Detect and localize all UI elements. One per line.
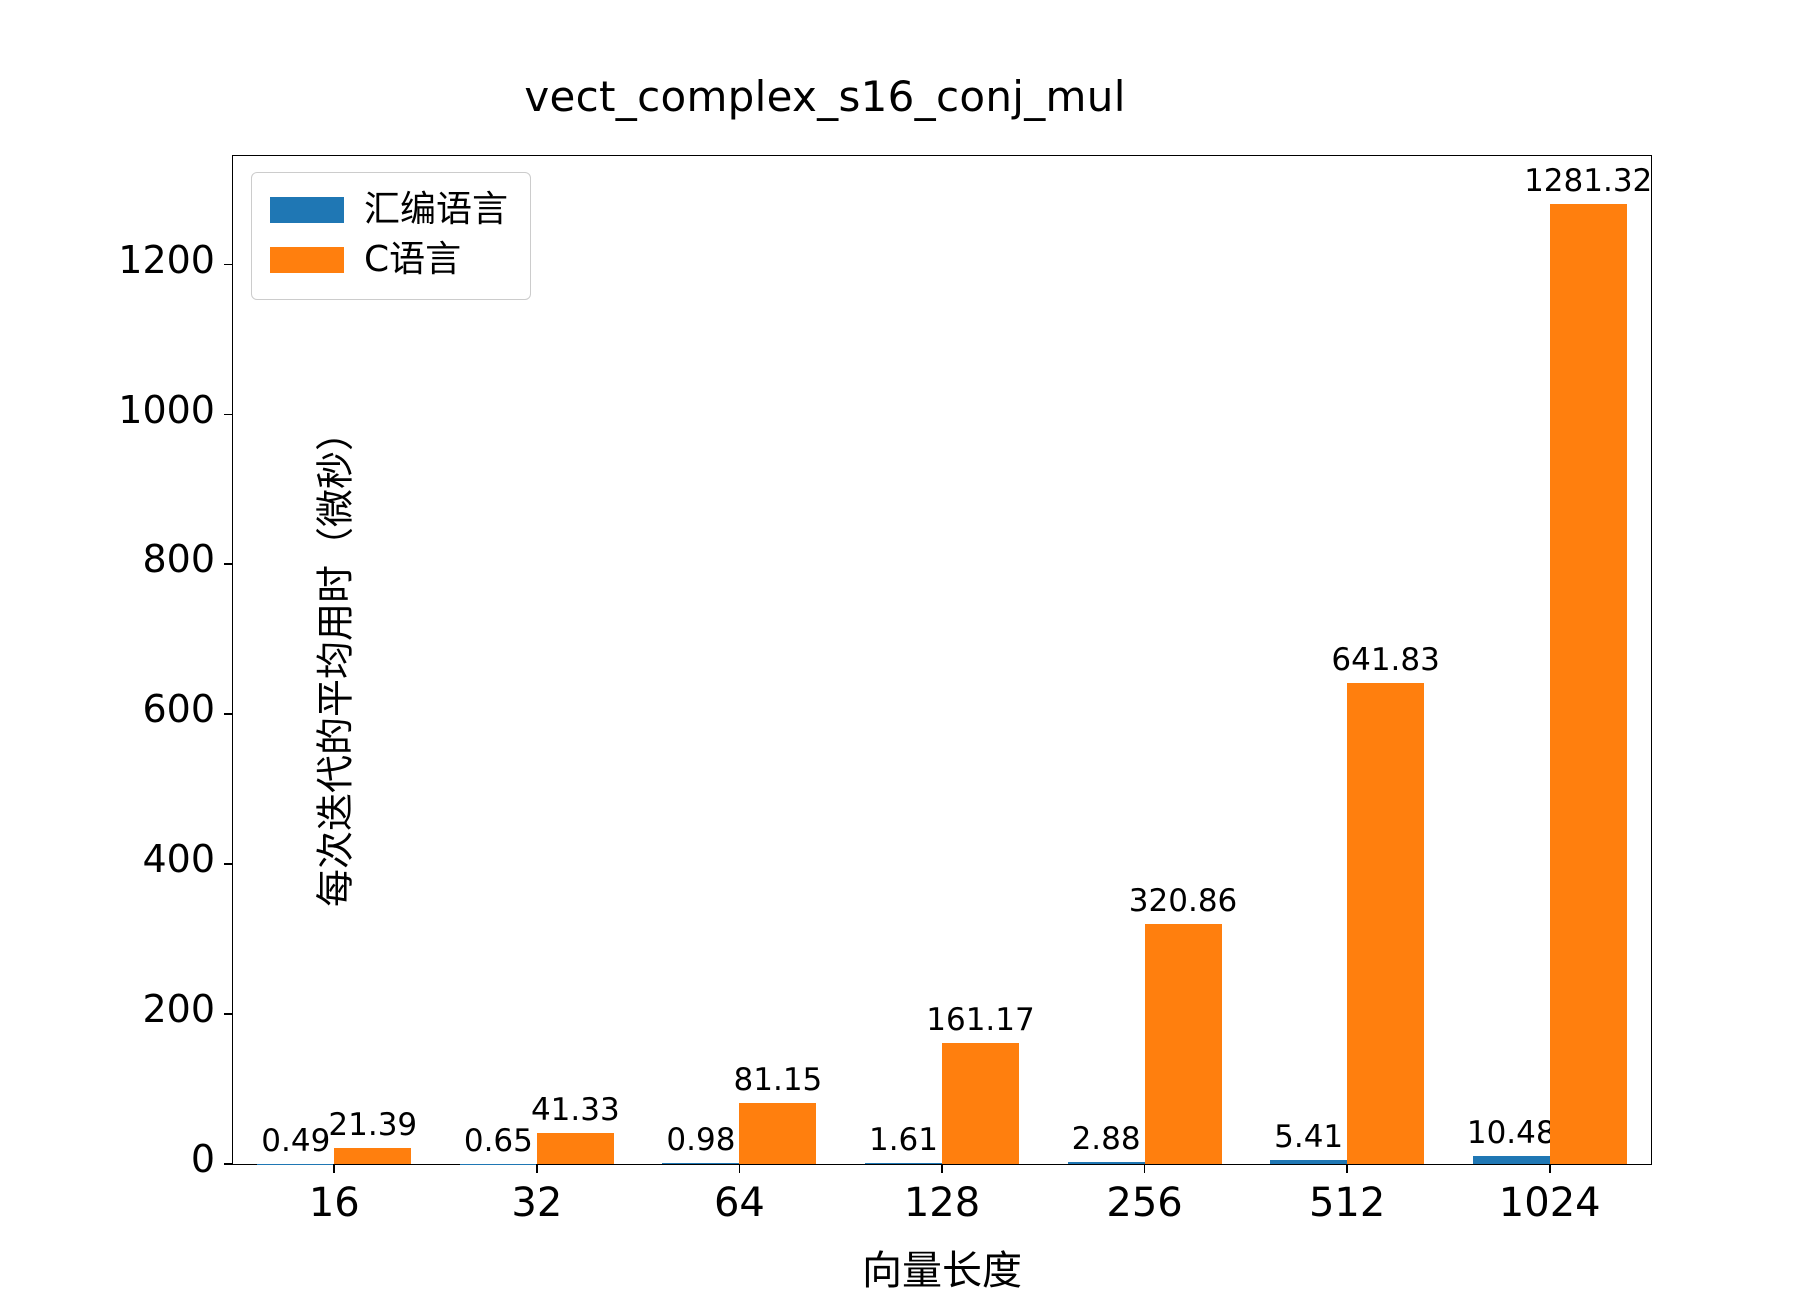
y-tick-label: 1000	[118, 388, 215, 432]
y-tick-label: 1200	[118, 238, 215, 282]
bar-value-label: 0.65	[464, 1123, 533, 1159]
bar-value-label: 0.49	[261, 1123, 330, 1159]
bar-value-label: 161.17	[926, 1002, 1034, 1038]
y-tick-label: 800	[142, 537, 215, 581]
x-tick-mark	[739, 1164, 741, 1173]
y-tick-mark	[224, 1013, 233, 1015]
x-tick-label: 1024	[1499, 1180, 1601, 1226]
chart-title: vect_complex_s16_conj_mul	[230, 72, 1420, 121]
x-tick-label: 64	[714, 1180, 765, 1226]
bar-c-64[interactable]: 81.15	[739, 1103, 816, 1164]
x-tick-label: 32	[511, 1180, 562, 1226]
legend-item[interactable]: C语言	[270, 235, 508, 285]
y-tick-label: 0	[191, 1137, 215, 1181]
bar-value-label: 81.15	[734, 1062, 823, 1098]
bar-c-32[interactable]: 41.33	[537, 1133, 614, 1164]
x-tick-mark	[1549, 1164, 1551, 1173]
y-tick-mark	[224, 713, 233, 715]
legend-swatch-icon	[270, 197, 344, 223]
plot-area: 020040060080010001200 0.4921.390.6541.33…	[233, 156, 1651, 1164]
y-tick-mark	[224, 414, 233, 416]
chart-axes: 020040060080010001200 0.4921.390.6541.33…	[232, 155, 1652, 1165]
bar-asm-256[interactable]: 2.88	[1068, 1162, 1145, 1164]
bar-c-512[interactable]: 641.83	[1347, 683, 1424, 1164]
bar-value-label: 0.98	[666, 1122, 735, 1158]
legend-label: C语言	[364, 242, 461, 278]
bar-c-128[interactable]: 161.17	[942, 1043, 1019, 1164]
y-axis-label: 每次迭代的平均用时（微秒）	[305, 413, 360, 907]
y-tick-label: 600	[142, 687, 215, 731]
bar-value-label: 641.83	[1331, 642, 1439, 678]
bar-c-256[interactable]: 320.86	[1145, 924, 1222, 1164]
x-tick-label: 16	[309, 1180, 360, 1226]
legend-swatch-icon	[270, 247, 344, 273]
x-tick-label: 512	[1309, 1180, 1385, 1226]
chart-figure: vect_complex_s16_conj_mul 02004006008001…	[0, 0, 1820, 1300]
x-tick-label: 128	[904, 1180, 980, 1226]
x-tick-mark	[333, 1164, 335, 1173]
x-tick-mark	[941, 1164, 943, 1173]
x-axis-label: 向量长度	[232, 1238, 1652, 1296]
bar-value-label: 10.48	[1467, 1115, 1556, 1151]
bar-asm-1024[interactable]: 10.48	[1473, 1156, 1550, 1164]
y-tick-mark	[224, 563, 233, 565]
x-tick-label: 256	[1106, 1180, 1182, 1226]
bar-value-label: 1281.32	[1524, 163, 1652, 199]
bar-value-label: 5.41	[1274, 1119, 1343, 1155]
chart-legend: 汇编语言C语言	[251, 172, 531, 300]
x-tick-mark	[536, 1164, 538, 1173]
bar-asm-128[interactable]: 1.61	[865, 1163, 942, 1164]
legend-label: 汇编语言	[364, 192, 508, 228]
bar-asm-64[interactable]: 0.98	[662, 1163, 739, 1164]
bar-value-label: 1.61	[869, 1122, 938, 1158]
bar-c-1024[interactable]: 1281.32	[1550, 204, 1627, 1164]
y-tick-label: 200	[142, 987, 215, 1031]
bar-value-label: 21.39	[328, 1107, 417, 1143]
y-tick-mark	[224, 863, 233, 865]
y-tick-label: 400	[142, 837, 215, 881]
bar-c-16[interactable]: 21.39	[334, 1148, 411, 1164]
bar-value-label: 41.33	[531, 1092, 620, 1128]
legend-item[interactable]: 汇编语言	[270, 185, 508, 235]
bar-value-label: 2.88	[1072, 1121, 1141, 1157]
x-tick-mark	[1346, 1164, 1348, 1173]
y-tick-mark	[224, 264, 233, 266]
x-tick-mark	[1144, 1164, 1146, 1173]
bar-asm-512[interactable]: 5.41	[1270, 1160, 1347, 1164]
bar-value-label: 320.86	[1129, 883, 1237, 919]
y-tick-mark	[224, 1163, 233, 1165]
